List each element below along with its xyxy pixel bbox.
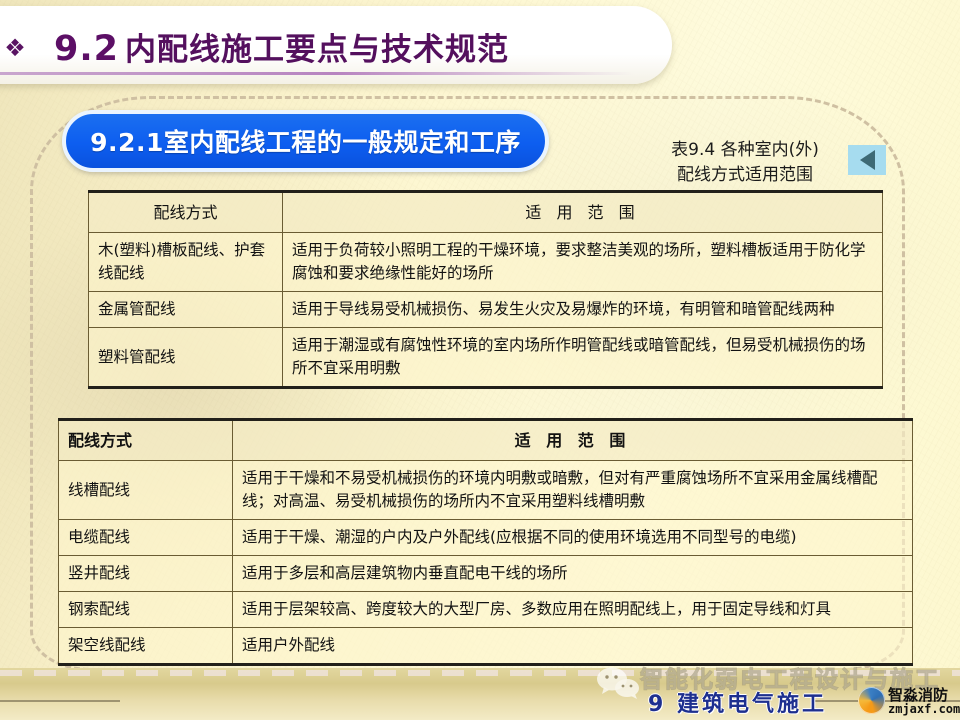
table-header-row: 配线方式 适 用 范 围 [89, 192, 883, 233]
table-row: 塑料管配线 适用于潮湿或有腐蚀性环境的室内场所作明管配线或暗管配线，但易受机械损… [89, 328, 883, 388]
column-header-method: 配线方式 [89, 192, 283, 233]
column-header-scope: 适 用 范 围 [233, 420, 913, 461]
cell-scope: 适用于负荷较小照明工程的干燥环境，要求整洁美观的场所，塑料槽板适用于防化学腐蚀和… [283, 233, 883, 292]
table-row: 钢索配线 适用于层架较高、跨度较大的大型厂房、多数应用在照明配线上，用于固定导线… [59, 592, 913, 628]
back-triangle-icon[interactable] [848, 145, 886, 175]
table-header-row: 配线方式 适 用 范 围 [59, 420, 913, 461]
slide-header-bar: ❖ 9.2内配线施工要点与技术规范 [0, 6, 672, 84]
cell-method: 木(塑料)槽板配线、护套线配线 [89, 233, 283, 292]
table-row: 木(塑料)槽板配线、护套线配线 适用于负荷较小照明工程的干燥环境，要求整洁美观的… [89, 233, 883, 292]
cell-method: 架空线配线 [59, 628, 233, 665]
brand-logo-icon [858, 687, 885, 714]
table-row: 电缆配线 适用于干燥、潮湿的户内及户外配线(应根据不同的使用环境选用不同型号的电… [59, 520, 913, 556]
cell-scope: 适用于层架较高、跨度较大的大型厂房、多数应用在照明配线上，用于固定导线和灯具 [233, 592, 913, 628]
wechat-icon [595, 666, 641, 700]
cell-scope: 适用于潮湿或有腐蚀性环境的室内场所作明管配线或暗管配线，但易受机械损伤的场所不宜… [283, 328, 883, 388]
table-caption-line1: 表9.4 各种室内(外) [640, 138, 850, 163]
diamond-bullet-icon: ❖ [2, 36, 28, 62]
cell-scope: 适用于导线易受机械损伤、易发生火灾及易爆炸的环境，有明管和暗管配线两种 [283, 292, 883, 328]
wiring-methods-table-2: 配线方式 适 用 范 围 线槽配线 适用于干燥和不易受机械损伤的环境内明敷或暗敷… [58, 418, 913, 666]
header-underline-decoration [0, 72, 634, 75]
slide-canvas: ❖ 9.2内配线施工要点与技术规范 9.2.1室内配线工程的一般规定和工序 表9… [0, 0, 960, 720]
table-row: 线槽配线 适用于干燥和不易受机械损伤的环境内明敷或暗敷，但对有严重腐蚀场所不宜采… [59, 461, 913, 520]
cell-method: 金属管配线 [89, 292, 283, 328]
column-header-scope: 适 用 范 围 [283, 192, 883, 233]
table-caption: 表9.4 各种室内(外) 配线方式适用范围 [640, 138, 850, 188]
cell-scope: 适用于多层和高层建筑物内垂直配电干线的场所 [233, 556, 913, 592]
table-row: 竖井配线 适用于多层和高层建筑物内垂直配电干线的场所 [59, 556, 913, 592]
page-title-text: 内配线施工要点与技术规范 [125, 32, 509, 68]
cell-method: 电缆配线 [59, 520, 233, 556]
footer-chapter-title: 9 建筑电气施工 [648, 686, 827, 718]
back-triangle-glyph [860, 150, 875, 170]
cell-method: 线槽配线 [59, 461, 233, 520]
footer-rule-left [0, 700, 120, 702]
table-row: 金属管配线 适用于导线易受机械损伤、易发生火灾及易爆炸的环境，有明管和暗管配线两… [89, 292, 883, 328]
cell-method: 塑料管配线 [89, 328, 283, 388]
page-title: 9.2内配线施工要点与技术规范 [54, 24, 509, 69]
page-title-number: 9.2 [54, 29, 119, 69]
section-badge[interactable]: 9.2.1室内配线工程的一般规定和工序 [62, 110, 549, 172]
table-caption-line2: 配线方式适用范围 [640, 163, 850, 188]
cell-method: 钢索配线 [59, 592, 233, 628]
wiring-methods-table-1: 配线方式 适 用 范 围 木(塑料)槽板配线、护套线配线 适用于负荷较小照明工程… [88, 190, 883, 389]
cell-scope: 适用于干燥和不易受机械损伤的环境内明敷或暗敷，但对有严重腐蚀场所不宜采用金属线槽… [233, 461, 913, 520]
cell-scope: 适用于干燥、潮湿的户内及户外配线(应根据不同的使用环境选用不同型号的电缆) [233, 520, 913, 556]
cell-scope: 适用户外配线 [233, 628, 913, 665]
brand-url: zmjaxf.com [888, 702, 960, 716]
section-badge-label: 9.2.1室内配线工程的一般规定和工序 [90, 123, 521, 159]
cell-method: 竖井配线 [59, 556, 233, 592]
column-header-method: 配线方式 [59, 420, 233, 461]
brand-block: 智淼消防 zmjaxf.com [858, 684, 960, 718]
table-row: 架空线配线 适用户外配线 [59, 628, 913, 665]
